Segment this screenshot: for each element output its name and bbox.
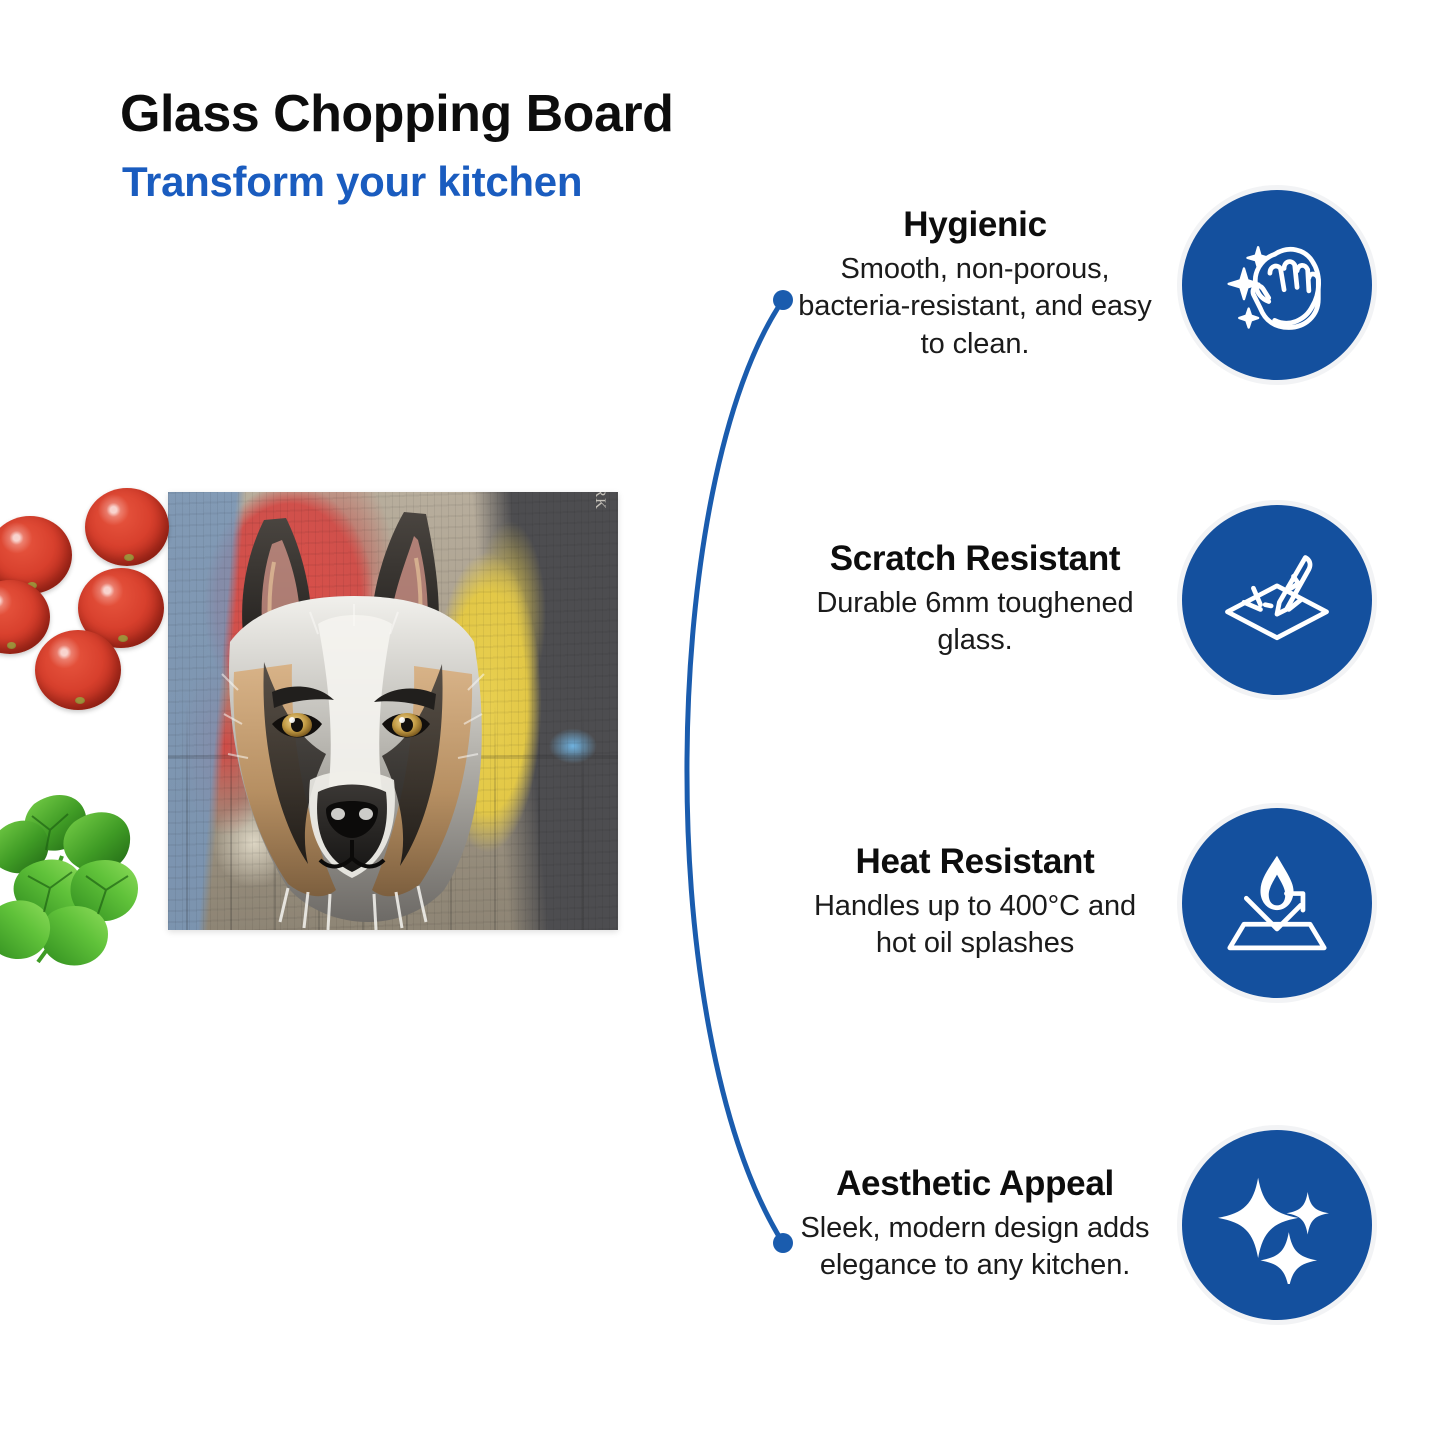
feature-icon-badge bbox=[1182, 190, 1372, 380]
feature-scratch-resistant: Scratch Resistant Durable 6mm toughened … bbox=[790, 505, 1372, 695]
feature-hygienic: Hygienic Smooth, non-porous, bacteria-re… bbox=[790, 190, 1372, 380]
flame-deflect-arrow-icon bbox=[1218, 844, 1336, 962]
feature-icon-badge bbox=[1182, 808, 1372, 998]
feature-title: Aesthetic Appeal bbox=[790, 1165, 1160, 1204]
feature-title: Hygienic bbox=[790, 206, 1160, 245]
german-shepherd-portrait bbox=[168, 492, 618, 930]
feature-description: Durable 6mm toughened glass. bbox=[790, 585, 1160, 660]
feature-heat-resistant: Heat Resistant Handles up to 400°C and h… bbox=[790, 808, 1372, 998]
page-subtitle: Transform your kitchen bbox=[122, 158, 582, 206]
feature-aesthetic-appeal: Aesthetic Appeal Sleek, modern design ad… bbox=[790, 1130, 1372, 1320]
connector-curve bbox=[620, 270, 850, 1280]
product-photo-composite: ARTWORK bbox=[0, 440, 660, 980]
feature-icon-badge bbox=[1182, 505, 1372, 695]
feature-title: Scratch Resistant bbox=[790, 540, 1160, 579]
knife-impact-surface-icon bbox=[1218, 541, 1336, 659]
three-sparkles-icon bbox=[1218, 1166, 1336, 1284]
feature-title: Heat Resistant bbox=[790, 843, 1160, 882]
page-title: Glass Chopping Board bbox=[120, 84, 673, 144]
feature-description: Sleek, modern design adds elegance to an… bbox=[790, 1210, 1160, 1285]
cherry-tomato bbox=[85, 488, 169, 566]
feature-description: Smooth, non-porous, bacteria-resistant, … bbox=[790, 251, 1160, 364]
hand-wiping-sparkle-icon bbox=[1218, 226, 1336, 344]
cherry-tomato bbox=[35, 630, 121, 710]
feature-icon-badge bbox=[1182, 1130, 1372, 1320]
feature-description: Handles up to 400°C and hot oil splashes bbox=[790, 888, 1160, 963]
glass-chopping-board-image: ARTWORK bbox=[168, 492, 618, 930]
infographic-canvas: Glass Chopping Board Transform your kitc… bbox=[0, 0, 1445, 1445]
parsley-sprig bbox=[0, 770, 191, 970]
